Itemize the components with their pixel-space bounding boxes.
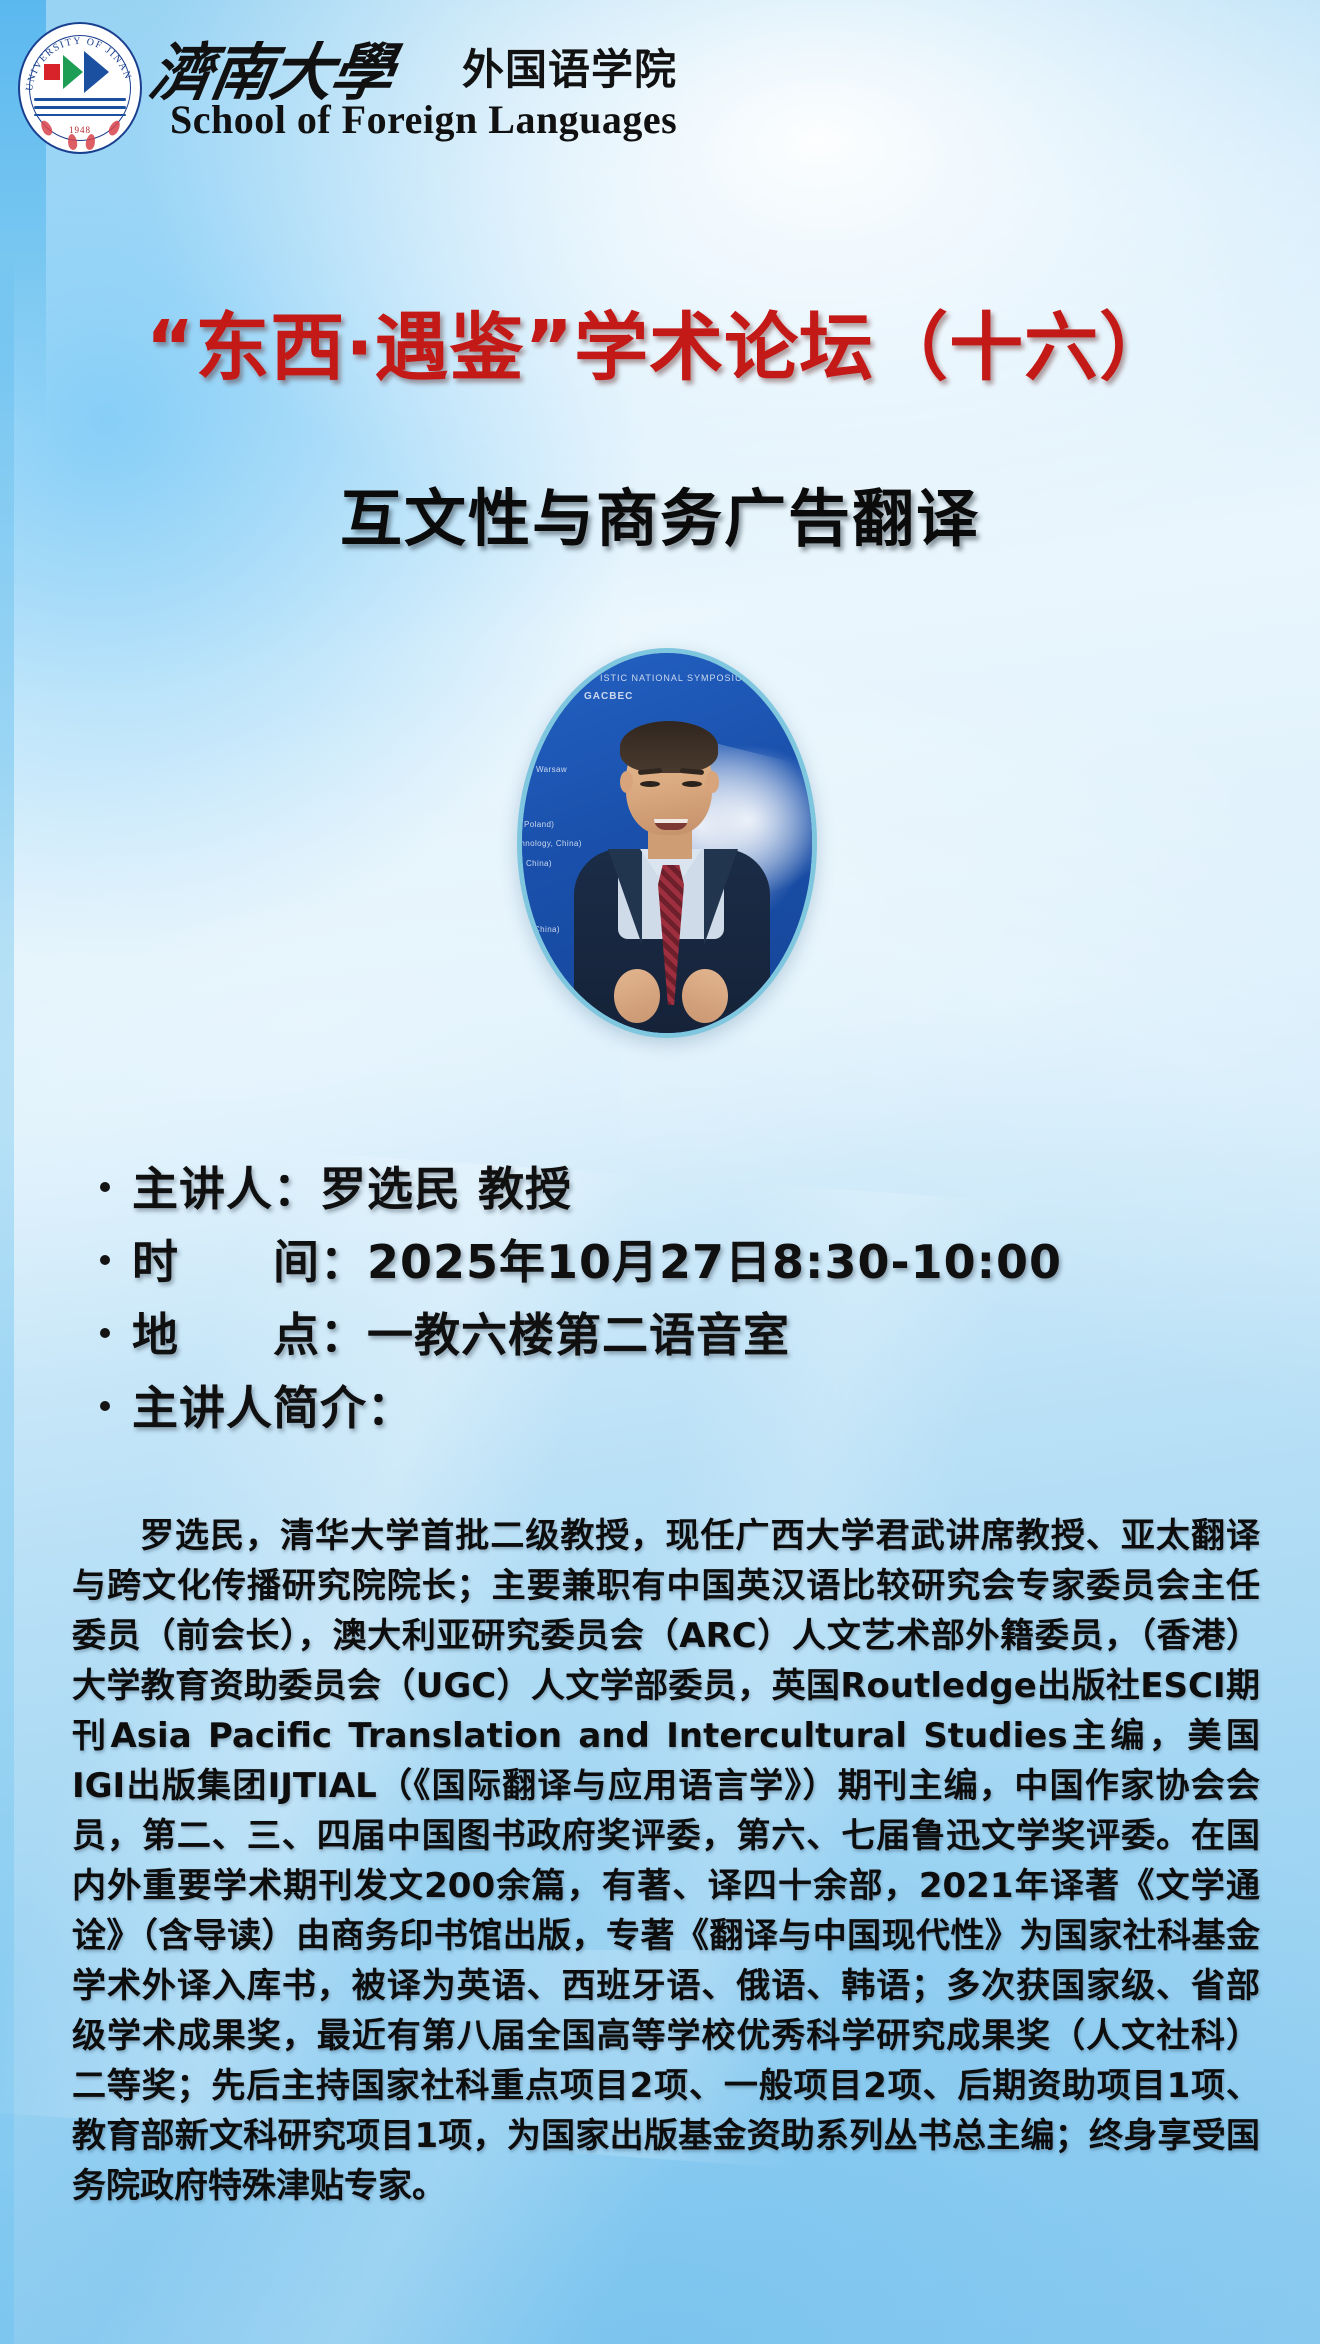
speaker-ear-left bbox=[620, 771, 633, 793]
speaker-hair bbox=[620, 721, 718, 773]
speaker-lapel-left bbox=[608, 849, 642, 945]
detail-speaker-value: 罗选民 教授 bbox=[320, 1162, 572, 1216]
list-item: 主讲人简介： bbox=[92, 1379, 1252, 1438]
backdrop-text-3: Poland) bbox=[524, 820, 554, 829]
school-name-chinese: 外国语学院 bbox=[462, 36, 677, 97]
speaker-hand-right bbox=[682, 969, 728, 1023]
list-item: 主讲人：罗选民 教授 bbox=[92, 1160, 1252, 1219]
bullet-dot-icon bbox=[92, 1306, 132, 1338]
crest-arc-text-icon: UNIVERSITY OF JINAN bbox=[20, 24, 140, 152]
backdrop-text-6: China) bbox=[534, 925, 560, 934]
detail-venue-value: 一教六楼第二语音室 bbox=[367, 1308, 790, 1362]
detail-speaker-line: 主讲人：罗选民 教授 bbox=[132, 1160, 572, 1219]
detail-time-label: 时 间： bbox=[132, 1235, 367, 1289]
speaker-lapel-right bbox=[704, 849, 738, 945]
detail-time-line: 时 间：2025年10月27日8:30-10:00 bbox=[132, 1233, 1062, 1292]
detail-time-value: 2025年10月27日8:30-10:00 bbox=[367, 1235, 1062, 1289]
speaker-ear-right bbox=[706, 771, 719, 793]
lecture-topic-title: 互文性与商务广告翻译 bbox=[0, 468, 1320, 558]
speaker-eye-left bbox=[640, 781, 660, 787]
poster-header: 1948 UNIVERSITY OF JINAN 濟南大學 外国语学院 Scho… bbox=[0, 0, 1320, 206]
event-details-list: 主讲人：罗选民 教授 时 间：2025年10月27日8:30-10:00 地 点… bbox=[92, 1160, 1252, 1452]
detail-speaker-label: 主讲人： bbox=[132, 1162, 320, 1216]
backdrop-text-0: ISTIC NATIONAL SYMPOSIUM bbox=[600, 673, 751, 683]
crest-icon: 1948 UNIVERSITY OF JINAN bbox=[18, 22, 142, 154]
bullet-dot-icon bbox=[92, 1379, 132, 1411]
bullet-dot-icon bbox=[92, 1233, 132, 1265]
detail-bio-heading: 主讲人简介： bbox=[132, 1379, 414, 1438]
list-item: 时 间：2025年10月27日8:30-10:00 bbox=[92, 1233, 1252, 1292]
school-name-english: School of Foreign Languages bbox=[170, 96, 677, 143]
speaker-hand-left bbox=[614, 969, 660, 1023]
speaker-eye-right bbox=[682, 781, 702, 787]
backdrop-text-5: China) bbox=[526, 859, 552, 868]
detail-venue-line: 地 点：一教六楼第二语音室 bbox=[132, 1306, 790, 1365]
forum-series-title: “东西·遇鉴”学术论坛（十六） bbox=[0, 288, 1320, 395]
speaker-biography: 罗选民，清华大学首批二级教授，现任广西大学君武讲席教授、亚太翻译与跨文化传播研究… bbox=[72, 1512, 1260, 2212]
speaker-portrait: ISTIC NATIONAL SYMPOSIUM GACBEC Warsaw P… bbox=[517, 648, 817, 1038]
list-item: 地 点：一教六楼第二语音室 bbox=[92, 1306, 1252, 1365]
backdrop-text-2: Warsaw bbox=[536, 765, 567, 774]
detail-venue-label: 地 点： bbox=[132, 1308, 367, 1362]
backdrop-text-4: chnology, China) bbox=[517, 839, 582, 848]
backdrop-text-1: GACBEC bbox=[584, 691, 633, 702]
university-crest-logo: 1948 UNIVERSITY OF JINAN bbox=[18, 22, 138, 150]
poster-canvas: 1948 UNIVERSITY OF JINAN 濟南大學 外国语学院 Scho… bbox=[0, 0, 1320, 2344]
bullet-dot-icon bbox=[92, 1160, 132, 1192]
svg-text:UNIVERSITY OF JINAN: UNIVERSITY OF JINAN bbox=[24, 36, 133, 92]
